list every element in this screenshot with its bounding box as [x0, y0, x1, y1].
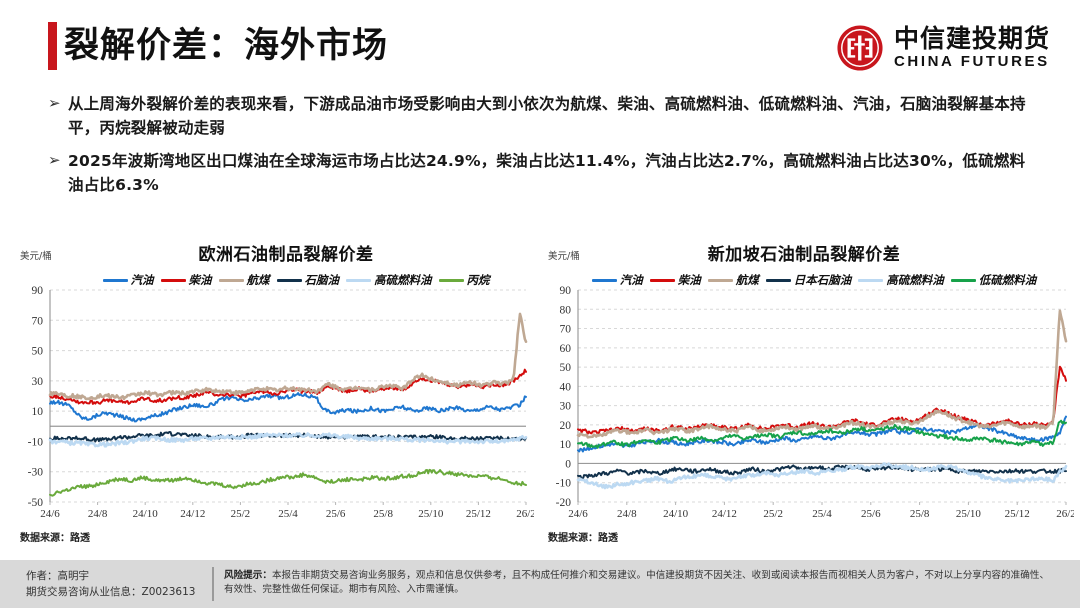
bullet-marker-icon: ➢	[48, 92, 68, 140]
legend-swatch-icon	[219, 279, 244, 282]
author-license: 期货交易咨询从业信息：Z0023613	[26, 584, 195, 600]
bullet-marker-icon: ➢	[48, 149, 68, 197]
svg-text:-10: -10	[28, 436, 44, 448]
svg-text:24/12: 24/12	[180, 508, 205, 520]
svg-text:24/8: 24/8	[617, 508, 637, 520]
svg-text:60: 60	[560, 343, 572, 355]
chart-europe: 美元/桶 欧洲石油制品裂解价差 汽油柴油航煤石脑油高硫燃料油丙烷 -50-30-…	[6, 240, 534, 550]
chart-singapore: 美元/桶 新加坡石油制品裂解价差 汽油柴油航煤日本石脑油高硫燃料油低硫燃料油 -…	[534, 240, 1074, 550]
chart-source: 数据来源：路透	[20, 529, 90, 544]
series-line-5	[50, 470, 526, 496]
svg-text:24/8: 24/8	[88, 508, 108, 520]
svg-text:25/2: 25/2	[231, 508, 251, 520]
svg-text:26/2: 26/2	[516, 508, 534, 520]
svg-text:25/6: 25/6	[326, 508, 346, 520]
svg-text:24/6: 24/6	[568, 508, 588, 520]
company-logo: 中信建投期货 CHINA FUTURES	[836, 24, 1050, 72]
page-header: 裂解价差：海外市场 中信建投期货 CHINA FUTURES	[0, 0, 1080, 86]
chart-title: 新加坡石油制品裂解价差	[534, 240, 1074, 265]
svg-text:80: 80	[560, 304, 572, 316]
footer-divider	[212, 567, 214, 601]
svg-text:50: 50	[560, 362, 572, 374]
svg-text:10: 10	[560, 439, 572, 451]
legend-swatch-icon	[951, 279, 976, 282]
svg-text:25/10: 25/10	[956, 508, 982, 520]
svg-text:25/6: 25/6	[861, 508, 881, 520]
svg-text:-10: -10	[556, 478, 572, 490]
page-title: 裂解价差：海外市场	[64, 22, 388, 70]
chart-source: 数据来源：路透	[548, 529, 618, 544]
list-item: ➢ 2025年波斯湾地区出口煤油在全球海运市场占比达24.9%，柴油占比达11.…	[48, 149, 1038, 197]
series-line-2	[50, 314, 526, 399]
legend-swatch-icon	[592, 279, 617, 282]
author-name: 作者：高明宇	[26, 568, 195, 584]
legend-swatch-icon	[103, 279, 128, 282]
bullet-text: 2025年波斯湾地区出口煤油在全球海运市场占比达24.9%，柴油占比达11.4%…	[68, 149, 1038, 197]
chart-plot-area: -50-30-10103050709024/624/824/1024/1225/…	[6, 286, 534, 526]
svg-text:70: 70	[560, 324, 572, 336]
series-line-1	[578, 367, 1066, 434]
page-footer: 作者：高明宇 期货交易咨询从业信息：Z0023613 风险提示：本报告非期货交易…	[0, 560, 1080, 608]
svg-text:30: 30	[560, 401, 572, 413]
citic-logo-icon	[836, 24, 884, 72]
chart-svg: -20-10010203040506070809024/624/824/1024…	[534, 286, 1074, 526]
legend-swatch-icon	[439, 279, 464, 282]
author-block: 作者：高明宇 期货交易咨询从业信息：Z0023613	[26, 568, 195, 600]
legend-swatch-icon	[708, 279, 733, 282]
series-line-2	[578, 311, 1066, 438]
legend-swatch-icon	[346, 279, 371, 282]
legend-swatch-icon	[766, 279, 791, 282]
svg-text:10: 10	[32, 406, 44, 418]
svg-text:25/12: 25/12	[1005, 508, 1030, 520]
svg-text:25/4: 25/4	[812, 508, 832, 520]
logo-text-en: CHINA FUTURES	[894, 53, 1050, 70]
svg-text:25/2: 25/2	[763, 508, 783, 520]
risk-disclaimer: 风险提示：本报告非期货交易咨询业务服务，观点和信息仅供参考，且不构成任何推介和交…	[224, 569, 1054, 597]
chart-title: 欧洲石油制品裂解价差	[6, 240, 550, 265]
svg-text:24/12: 24/12	[712, 508, 737, 520]
svg-text:24/10: 24/10	[133, 508, 159, 520]
legend-swatch-icon	[650, 279, 675, 282]
svg-text:90: 90	[32, 286, 44, 297]
svg-text:26/2: 26/2	[1056, 508, 1074, 520]
risk-label: 风险提示：	[224, 570, 272, 581]
svg-text:25/8: 25/8	[373, 508, 393, 520]
chart-plot-area: -20-10010203040506070809024/624/824/1024…	[534, 286, 1074, 526]
list-item: ➢ 从上周海外裂解价差的表现来看，下游成品油市场受影响由大到小依次为航煤、柴油、…	[48, 92, 1038, 140]
svg-text:50: 50	[32, 346, 44, 358]
legend-swatch-icon	[161, 279, 186, 282]
svg-text:25/12: 25/12	[466, 508, 491, 520]
svg-text:30: 30	[32, 376, 44, 388]
svg-text:40: 40	[560, 381, 572, 393]
legend-swatch-icon	[277, 279, 302, 282]
svg-text:90: 90	[560, 286, 572, 297]
bullet-list: ➢ 从上周海外裂解价差的表现来看，下游成品油市场受影响由大到小依次为航煤、柴油、…	[48, 92, 1038, 206]
bullet-text: 从上周海外裂解价差的表现来看，下游成品油市场受影响由大到小依次为航煤、柴油、高硫…	[68, 92, 1038, 140]
svg-text:25/8: 25/8	[910, 508, 930, 520]
legend-swatch-icon	[858, 279, 883, 282]
svg-text:24/10: 24/10	[663, 508, 689, 520]
svg-text:25/10: 25/10	[418, 508, 444, 520]
title-accent-bar	[48, 22, 57, 70]
series-line-4	[50, 434, 526, 447]
logo-text-cn: 中信建投期货	[894, 26, 1050, 52]
svg-text:0: 0	[565, 458, 571, 470]
chart-svg: -50-30-10103050709024/624/824/1024/1225/…	[6, 286, 534, 526]
risk-text: 本报告非期货交易咨询业务服务，观点和信息仅供参考，且不构成任何推介和交易建议。中…	[224, 570, 1049, 595]
svg-text:24/6: 24/6	[40, 508, 60, 520]
svg-text:70: 70	[32, 315, 44, 327]
svg-text:-30: -30	[28, 467, 44, 479]
svg-text:25/4: 25/4	[278, 508, 298, 520]
svg-text:20: 20	[560, 420, 572, 432]
